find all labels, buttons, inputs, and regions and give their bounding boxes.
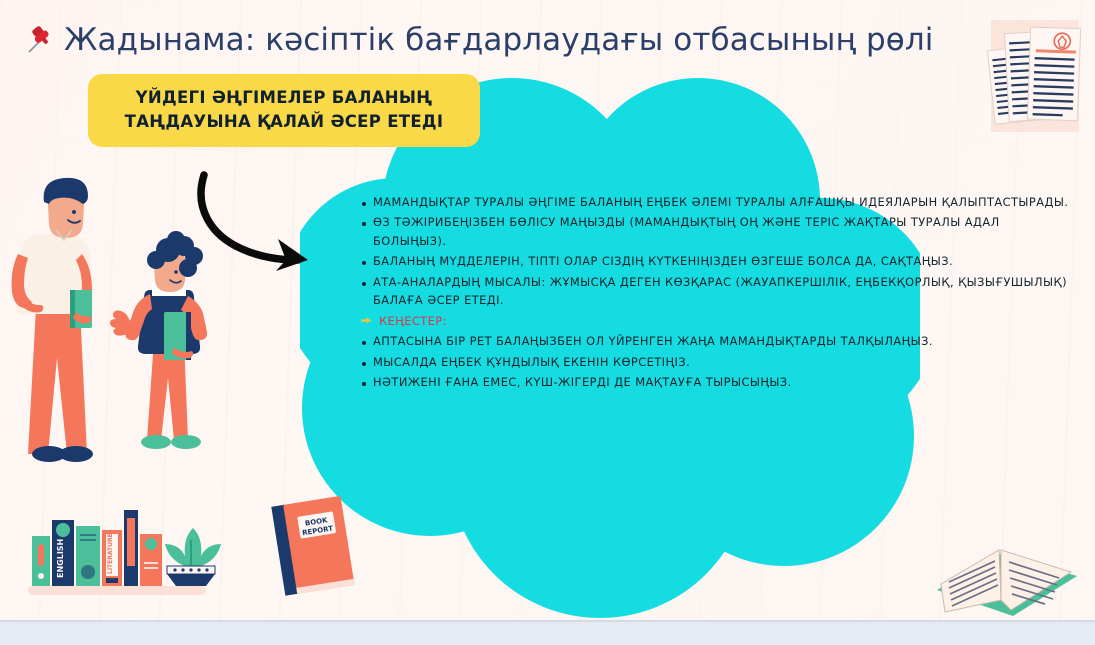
book-report-illustration: BOOK REPORT <box>258 486 378 604</box>
tips-heading-row: КЕҢЕСТЕР: <box>360 312 1074 330</box>
list-item-text: АТА-АНАЛАРДЫҢ МЫСАЛЫ: ЖҰМЫСҚА ДЕГЕН КӨЗҚ… <box>373 273 1074 310</box>
list-item: МАМАНДЫҚТАР ТУРАЛЫ ӘҢГІМЕ БАЛАНЫҢ ЕҢБЕК … <box>362 193 1074 211</box>
bullet-dot <box>362 341 366 345</box>
list-item-text: БАЛАНЫҢ МҮДДЕЛЕРІН, ТІПТІ ОЛАР СІЗДІҢ КҮ… <box>373 252 953 270</box>
list-item: МЫСАЛДА ЕҢБЕК ҚҰНДЫЛЫҚ ЕКЕНІН КӨРСЕТІҢІЗ… <box>362 353 1074 371</box>
list-item: НӘТИЖЕНІ ҒАНА ЕМЕС, КҮШ-ЖІГЕРДІ ДЕ МАҚТА… <box>362 373 1074 391</box>
bullet-dot <box>362 282 366 286</box>
list-item: АТА-АНАЛАРДЫҢ МЫСАЛЫ: ЖҰМЫСҚА ДЕГЕН КӨЗҚ… <box>362 273 1074 310</box>
list-item-text: НӘТИЖЕНІ ҒАНА ЕМЕС, КҮШ-ЖІГЕРДІ ДЕ МАҚТА… <box>373 373 792 391</box>
bullet-dot <box>362 382 366 386</box>
curved-arrow-icon <box>188 165 328 275</box>
bookshelf-illustration: ENGLISH LITERATURE <box>10 492 230 602</box>
list-item-text: АПТАСЫНА БІР РЕТ БАЛАҢЫЗБЕН ОЛ ҮЙРЕНГЕН … <box>373 332 933 350</box>
parent-figure <box>12 178 94 462</box>
list-item: ӨЗ ТӘЖІРИБЕҢІЗБЕН БӨЛІСУ МАҢЫЗДЫ (МАМАНД… <box>362 213 1074 250</box>
bullet-dot <box>362 202 366 206</box>
list-item-text: МАМАНДЫҚТАР ТУРАЛЫ ӘҢГІМЕ БАЛАНЫҢ ЕҢБЕК … <box>373 193 1068 211</box>
book-spine-english: ENGLISH <box>56 539 65 578</box>
slide-title-row: Жадынама: кәсіптік бағдарлаудағы отбасын… <box>22 16 1032 64</box>
slide-canvas: Жадынама: кәсіптік бағдарлаудағы отбасын… <box>0 0 1095 620</box>
potted-plant-icon <box>165 528 221 586</box>
bullet-dot <box>362 362 366 366</box>
page-title: Жадынама: кәсіптік бағдарлаудағы отбасын… <box>64 22 933 58</box>
pushpin-icon <box>22 23 56 57</box>
open-book-illustration <box>925 530 1085 620</box>
document-stack-illustration <box>985 14 1089 142</box>
list-item: БАЛАНЫҢ МҮДДЕЛЕРІН, ТІПТІ ОЛАР СІЗДІҢ КҮ… <box>362 252 1074 270</box>
badge-line-1: ҮЙДЕГІ ӘҢГІМЕЛЕР БАЛАНЫҢ <box>102 86 466 110</box>
viewer-bottom-bar <box>0 620 1095 645</box>
bullet-dot <box>362 261 366 265</box>
list-item: АПТАСЫНА БІР РЕТ БАЛАҢЫЗБЕН ОЛ ҮЙРЕНГЕН … <box>362 332 1074 350</box>
pointing-hand-icon <box>360 315 373 326</box>
bullet-list: МАМАНДЫҚТАР ТУРАЛЫ ӘҢГІМЕ БАЛАНЫҢ ЕҢБЕК … <box>362 193 1074 394</box>
list-item-text: ӨЗ ТӘЖІРИБЕҢІЗБЕН БӨЛІСУ МАҢЫЗДЫ (МАМАНД… <box>373 213 1074 250</box>
badge-line-2: ТАҢДАУЫНА ҚАЛАЙ ӘСЕР ЕТЕДІ <box>102 110 466 134</box>
tips-heading: КЕҢЕСТЕР: <box>379 312 447 330</box>
highlight-badge: ҮЙДЕГІ ӘҢГІМЕЛЕР БАЛАНЫҢ ТАҢДАУЫНА ҚАЛАЙ… <box>88 74 480 147</box>
list-item-text: МЫСАЛДА ЕҢБЕК ҚҰНДЫЛЫҚ ЕКЕНІН КӨРСЕТІҢІЗ… <box>373 353 690 371</box>
book-spine-literature: LITERATURE <box>107 533 114 574</box>
bullet-dot <box>362 222 366 226</box>
